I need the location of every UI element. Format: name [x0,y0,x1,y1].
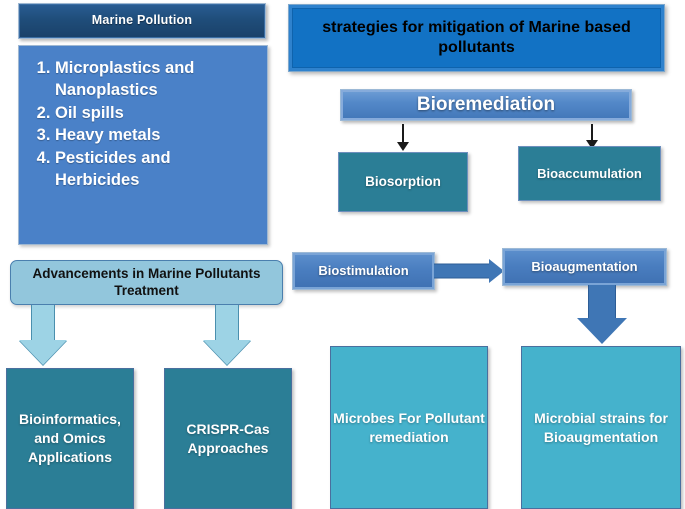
microbes-for-pollutant-remediation-box: Microbes For Pollutant remediation [330,346,488,509]
bioinformatics-label: Bioinformatics, and Omics Applications [7,410,133,467]
advancements-in-marine-pollutants-treatment-box: Advancements in Marine Pollutants Treatm… [10,260,283,305]
marine-pollution-header: Marine Pollution [18,3,266,39]
marine-pollution-header-label: Marine Pollution [92,13,192,28]
crispr-label: CRISPR-Cas Approaches [165,420,291,458]
down-arrow-icon [396,124,410,152]
biostimulation-box: Biostimulation [292,252,435,290]
biostimulation-label: Biostimulation [318,263,408,279]
crispr-cas-approaches-box: CRISPR-Cas Approaches [164,368,292,509]
biosorption-box: Biosorption [338,152,468,212]
pollutant-list: Microplastics and Nanoplastics Oil spill… [29,58,259,193]
microbes-label: Microbes For Pollutant remediation [331,409,487,447]
list-item: Oil spills [55,103,259,125]
strategies-header-box: strategies for mitigation of Marine base… [288,4,665,72]
down-arrow-icon [576,285,628,347]
flowchart-canvas: Marine Pollution Microplastics and Nanop… [0,0,685,509]
bioaccumulation-box: Bioaccumulation [518,146,661,201]
bioremediation-box: Bioremediation [340,89,632,121]
bioaccumulation-label: Bioaccumulation [537,166,642,182]
microbial-strains-for-bioaugmentation-box: Microbial strains for Bioaugmentation [521,346,681,509]
advancements-label: Advancements in Marine Pollutants Treatm… [11,266,282,299]
bioremediation-label: Bioremediation [417,93,555,116]
biosorption-label: Biosorption [365,174,441,190]
right-arrow-icon [434,258,504,284]
list-item: Microplastics and Nanoplastics [55,58,259,102]
list-item: Heavy metals [55,125,259,147]
pollutant-list-box: Microplastics and Nanoplastics Oil spill… [18,45,268,245]
list-item: Pesticides and Herbicides [55,148,259,192]
down-arrow-icon [18,305,68,365]
microbial-strains-label: Microbial strains for Bioaugmentation [522,409,680,447]
down-arrow-icon [202,305,252,365]
bioinformatics-and-omics-applications-box: Bioinformatics, and Omics Applications [6,368,134,509]
bioaugmentation-label: Bioaugmentation [531,259,637,275]
bioaugmentation-box: Bioaugmentation [502,248,667,286]
strategies-header-label: strategies for mitigation of Marine base… [305,18,648,57]
